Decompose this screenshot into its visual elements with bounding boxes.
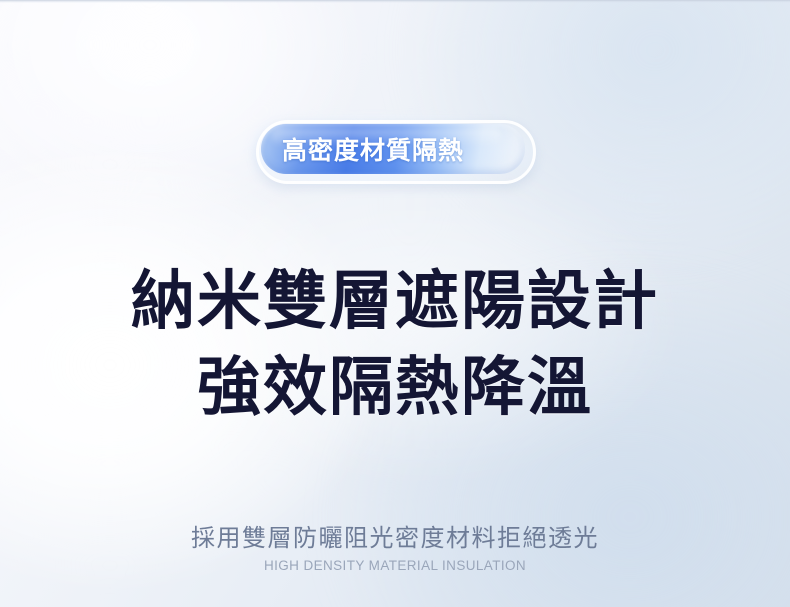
headline-line-2: 強效隔熱降溫 xyxy=(0,344,790,430)
english-caption: HIGH DENSITY MATERIAL INSULATION xyxy=(0,558,790,573)
banner-content: 高密度材質隔熱 納米雙層遮陽設計 強效隔熱降溫 採用雙層防曬阻光密度材料拒絕透光… xyxy=(0,0,790,607)
headline: 納米雙層遮陽設計 強效隔熱降溫 xyxy=(0,258,790,430)
badge-container: 高密度材質隔熱 xyxy=(0,124,790,178)
subtitle: 採用雙層防曬阻光密度材料拒絕透光 xyxy=(0,518,790,553)
feature-badge: 高密度材質隔熱 xyxy=(261,124,529,178)
badge-pill-body: 高密度材質隔熱 xyxy=(261,124,525,174)
headline-line-1: 納米雙層遮陽設計 xyxy=(0,258,790,344)
promo-banner: 高密度材質隔熱 納米雙層遮陽設計 強效隔熱降溫 採用雙層防曬阻光密度材料拒絕透光… xyxy=(0,0,790,607)
badge-label: 高密度材質隔熱 xyxy=(282,131,464,167)
